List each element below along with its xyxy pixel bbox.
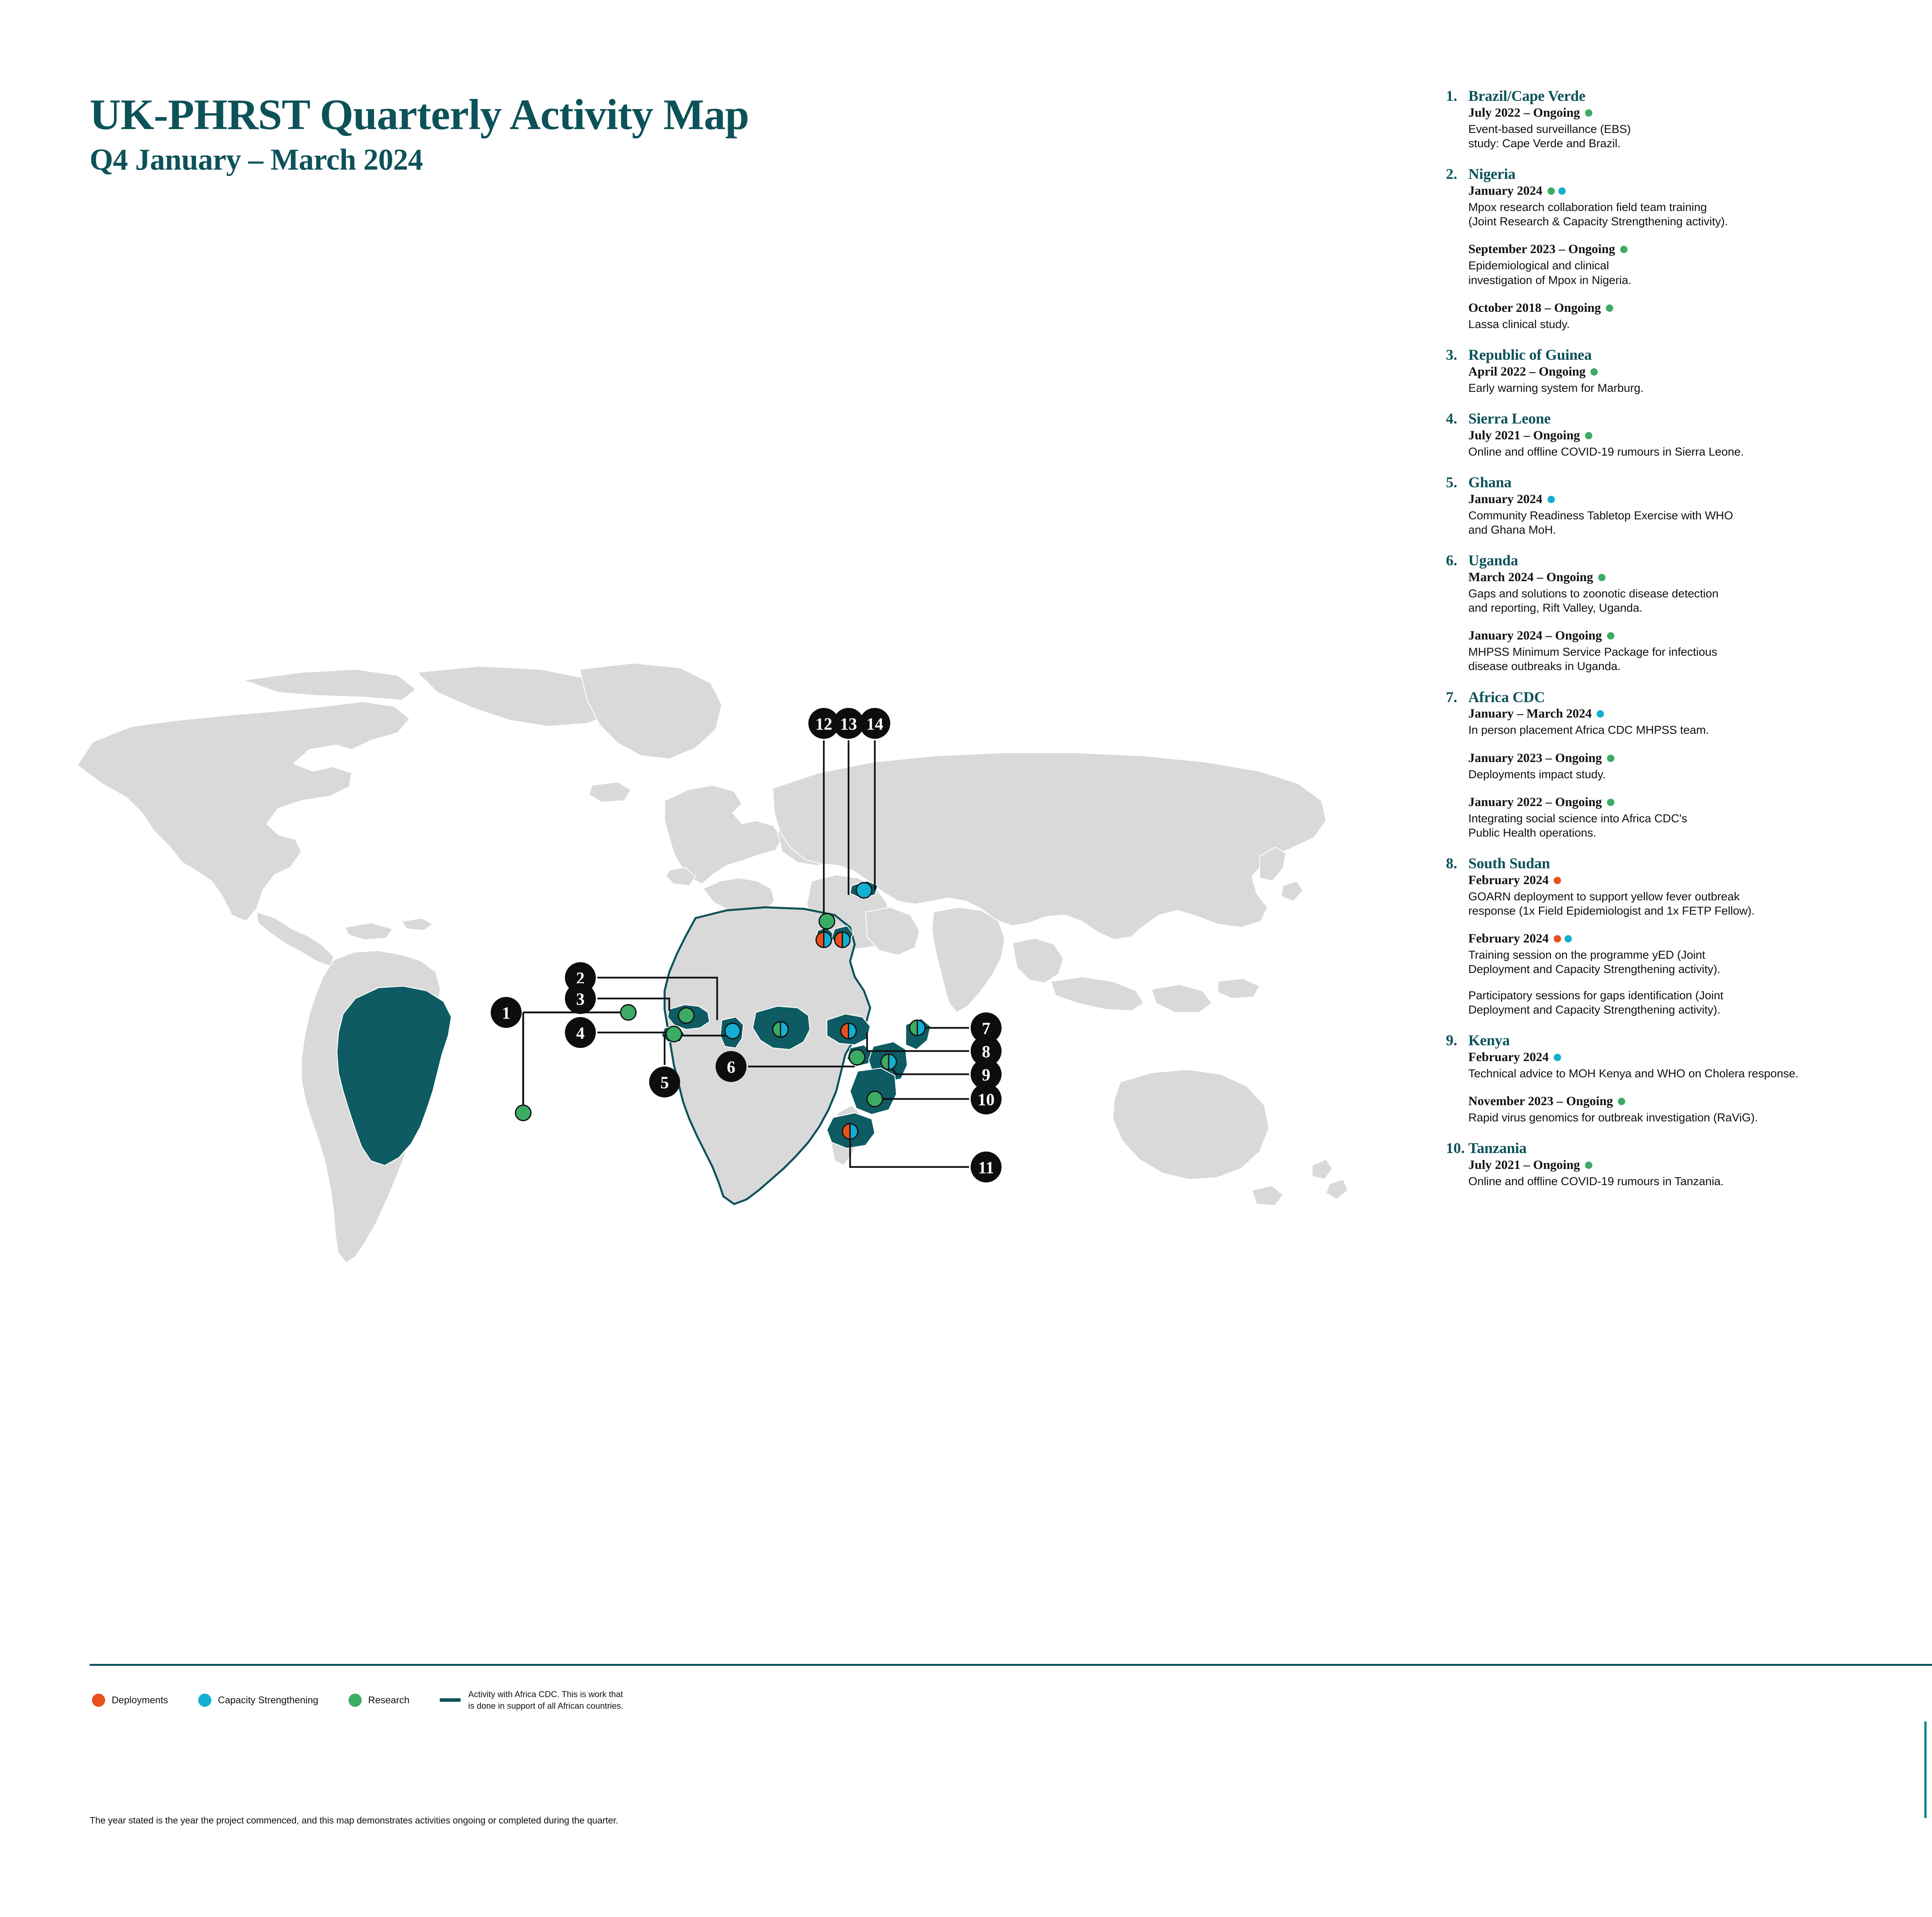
capacity-dot-icon xyxy=(1565,935,1572,942)
activity-description: Integrating social science into Africa C… xyxy=(1468,811,1902,840)
activity-description: Mpox research collaboration field team t… xyxy=(1468,200,1902,229)
entry-header: 1.Brazil/Cape Verde xyxy=(1446,88,1902,105)
activity-item: July 2022 – OngoingEvent-based surveilla… xyxy=(1468,105,1902,151)
svg-text:5: 5 xyxy=(660,1073,669,1092)
map-badge-3: 3 xyxy=(565,983,596,1014)
entry-header: 3.Republic of Guinea xyxy=(1446,347,1902,364)
activity-date-text: January – March 2024 xyxy=(1468,706,1592,721)
activity-item: February 2024GOARN deployment to support… xyxy=(1468,873,1902,918)
svg-text:6: 6 xyxy=(727,1058,735,1077)
activity-entry: 8.South SudanFebruary 2024GOARN deployme… xyxy=(1446,856,1902,1017)
activity-item: January 2023 – OngoingDeployments impact… xyxy=(1468,751,1902,782)
page-title: UK-PHRST Quarterly Activity Map xyxy=(90,93,1094,137)
activity-date-text: January 2024 – Ongoing xyxy=(1468,628,1602,643)
activity-date: January 2022 – Ongoing xyxy=(1468,795,1902,810)
title-block: UK-PHRST Quarterly Activity Map Q4 Janua… xyxy=(90,93,1094,177)
svg-text:7: 7 xyxy=(982,1019,990,1038)
activity-entry: 7.Africa CDCJanuary – March 2024In perso… xyxy=(1446,689,1902,840)
entry-country-name: Republic of Guinea xyxy=(1468,347,1592,364)
africa-cdc-line-icon xyxy=(440,1698,461,1702)
entry-country-name: Ghana xyxy=(1468,475,1512,491)
research-dot-icon xyxy=(1607,632,1614,640)
activity-date-text: November 2023 – Ongoing xyxy=(1468,1094,1613,1109)
activity-description: Training session on the programme yED (J… xyxy=(1468,948,1902,976)
legend-item-research: Research xyxy=(349,1694,410,1707)
legend-label: Capacity Strengthening xyxy=(218,1694,318,1706)
activity-date-text: February 2024 xyxy=(1468,873,1549,888)
activity-extra-description: Participatory sessions for gaps identifi… xyxy=(1468,988,1902,1017)
activity-item: April 2022 – OngoingEarly warning system… xyxy=(1468,364,1902,395)
map-badge-4: 4 xyxy=(565,1017,596,1048)
activity-list-column-left: 1.Brazil/Cape VerdeJuly 2022 – OngoingEv… xyxy=(1446,88,1902,1204)
svg-text:11: 11 xyxy=(978,1158,994,1177)
activity-category-dots xyxy=(1554,935,1572,942)
svg-text:14: 14 xyxy=(866,714,883,733)
research-dot-icon xyxy=(1585,109,1592,117)
svg-text:3: 3 xyxy=(576,990,585,1009)
world-activity-map[interactable]: 1 2 3 4 5 6 7 8 9 10 11 12 13 14 xyxy=(46,649,1406,1337)
activity-category-dots xyxy=(1607,799,1614,806)
activity-category-dots xyxy=(1548,187,1566,195)
entry-number: 3. xyxy=(1446,347,1468,364)
map-badge-10: 10 xyxy=(971,1084,1002,1114)
entry-header: 9.Kenya xyxy=(1446,1032,1902,1049)
activity-date-text: July 2021 – Ongoing xyxy=(1468,1158,1580,1173)
research-dot-icon xyxy=(1585,1162,1592,1169)
activity-item: January 2024 – OngoingMHPSS Minimum Serv… xyxy=(1468,628,1902,674)
activity-date-text: February 2024 xyxy=(1468,931,1549,946)
map-badge-1: 1 xyxy=(491,997,522,1028)
activity-date: February 2024 xyxy=(1468,873,1902,888)
activity-date-text: February 2024 xyxy=(1468,1050,1549,1065)
activity-description: Lassa clinical study. xyxy=(1468,317,1902,332)
activity-date-text: October 2018 – Ongoing xyxy=(1468,301,1601,316)
activity-description: Early warning system for Marburg. xyxy=(1468,381,1902,395)
activity-date-text: July 2021 – Ongoing xyxy=(1468,428,1580,443)
entry-country-name: Tanzania xyxy=(1468,1140,1527,1157)
activity-date: January 2024 – Ongoing xyxy=(1468,628,1902,643)
research-dot-icon xyxy=(1620,246,1628,253)
entry-number: 2. xyxy=(1446,166,1468,183)
map-badge-6: 6 xyxy=(716,1051,747,1082)
entry-number: 6. xyxy=(1446,553,1468,569)
activity-entry: 2.NigeriaJanuary 2024Mpox research colla… xyxy=(1446,166,1902,332)
activity-entry: 9.KenyaFebruary 2024Technical advice to … xyxy=(1446,1032,1902,1125)
entry-header: 4.Sierra Leone xyxy=(1446,411,1902,427)
activity-category-dots xyxy=(1585,432,1592,439)
activity-item: October 2018 – OngoingLassa clinical stu… xyxy=(1468,301,1902,332)
activity-date-text: January 2024 xyxy=(1468,184,1543,199)
legend-label: Research xyxy=(368,1694,410,1706)
footer-divider xyxy=(90,1664,1932,1666)
activity-description: Gaps and solutions to zoonotic disease d… xyxy=(1468,587,1902,615)
entry-country-name: Uganda xyxy=(1468,553,1518,569)
activity-date-text: September 2023 – Ongoing xyxy=(1468,242,1615,257)
entry-country-name: Sierra Leone xyxy=(1468,411,1551,427)
research-dot-icon xyxy=(349,1694,362,1707)
activity-category-dots xyxy=(1590,368,1598,376)
activity-entry: 3.Republic of GuineaApril 2022 – Ongoing… xyxy=(1446,347,1902,395)
capacity-dot-icon xyxy=(1554,1054,1561,1061)
entry-header: 8.South Sudan xyxy=(1446,856,1902,872)
entry-number: 10. xyxy=(1446,1140,1468,1157)
capacity-dot-icon xyxy=(1597,710,1604,718)
partner-logos: UK HealthSecurityAgency LONDON SCHOOLof … xyxy=(1924,1708,1932,1824)
activity-item: February 2024Technical advice to MOH Ken… xyxy=(1468,1050,1902,1081)
svg-text:13: 13 xyxy=(840,714,857,733)
activity-entry: 5.GhanaJanuary 2024Community Readiness T… xyxy=(1446,475,1902,537)
activity-description: Technical advice to MOH Kenya and WHO on… xyxy=(1468,1067,1902,1081)
legend-item-capacity-strengthening: Capacity Strengthening xyxy=(198,1694,318,1707)
activity-date-text: April 2022 – Ongoing xyxy=(1468,364,1585,379)
activity-date: January – March 2024 xyxy=(1468,706,1902,721)
activity-item: February 2024Training session on the pro… xyxy=(1468,931,1902,1017)
activity-category-dots xyxy=(1548,496,1555,503)
activity-category-dots xyxy=(1554,877,1561,884)
deployments-dot-icon xyxy=(1554,935,1561,942)
activity-description: Online and offline COVID-19 rumours in S… xyxy=(1468,445,1902,459)
legend: Deployments Capacity Strengthening Resea… xyxy=(92,1689,653,1711)
entry-header: 7.Africa CDC xyxy=(1446,689,1902,706)
activity-date-text: January 2022 – Ongoing xyxy=(1468,795,1602,810)
activity-item: January 2022 – OngoingIntegrating social… xyxy=(1468,795,1902,840)
activity-date-text: January 2023 – Ongoing xyxy=(1468,751,1602,766)
activity-date: January 2024 xyxy=(1468,492,1902,507)
research-dot-icon xyxy=(1585,432,1592,439)
svg-text:12: 12 xyxy=(815,714,832,733)
activity-category-dots xyxy=(1606,304,1613,312)
activity-category-dots xyxy=(1620,246,1628,253)
research-dot-icon xyxy=(1607,755,1614,762)
map-badge-5: 5 xyxy=(649,1067,680,1097)
activity-date: July 2021 – Ongoing xyxy=(1468,1158,1902,1173)
entry-header: 2.Nigeria xyxy=(1446,166,1902,183)
activity-entry: 4.Sierra LeoneJuly 2021 – OngoingOnline … xyxy=(1446,411,1902,459)
svg-text:8: 8 xyxy=(982,1042,990,1061)
activity-date: March 2024 – Ongoing xyxy=(1468,570,1902,585)
entry-number: 4. xyxy=(1446,411,1468,427)
activity-item: July 2021 – OngoingOnline and offline CO… xyxy=(1468,1158,1902,1189)
entry-number: 5. xyxy=(1446,475,1468,491)
research-dot-icon xyxy=(1607,799,1614,806)
activity-date: September 2023 – Ongoing xyxy=(1468,242,1902,257)
activity-date: July 2021 – Ongoing xyxy=(1468,428,1902,443)
entry-header: 6.Uganda xyxy=(1446,553,1902,569)
activity-item: January 2024Mpox research collaboration … xyxy=(1468,184,1902,229)
svg-text:9: 9 xyxy=(982,1065,990,1084)
activity-category-dots xyxy=(1585,109,1592,117)
entry-country-name: Nigeria xyxy=(1468,166,1515,183)
page-subtitle: Q4 January – March 2024 xyxy=(90,142,1094,177)
entry-number: 1. xyxy=(1446,88,1468,105)
research-dot-icon xyxy=(1606,304,1613,312)
activity-category-dots xyxy=(1618,1098,1625,1105)
logo-accent-bar xyxy=(1924,1721,1927,1818)
activity-item: September 2023 – OngoingEpidemiological … xyxy=(1468,242,1902,287)
svg-text:1: 1 xyxy=(502,1004,510,1022)
activity-date-text: January 2024 xyxy=(1468,492,1543,507)
activity-category-dots xyxy=(1597,710,1604,718)
activity-category-dots xyxy=(1607,755,1614,762)
activity-date: February 2024 xyxy=(1468,1050,1902,1065)
entry-header: 10.Tanzania xyxy=(1446,1140,1902,1157)
activity-description: In person placement Africa CDC MHPSS tea… xyxy=(1468,723,1902,737)
activity-date: April 2022 – Ongoing xyxy=(1468,364,1902,379)
activity-entry: 6.UgandaMarch 2024 – OngoingGaps and sol… xyxy=(1446,553,1902,674)
footnote: The year stated is the year the project … xyxy=(90,1815,618,1826)
entry-header: 5.Ghana xyxy=(1446,475,1902,491)
entry-number: 7. xyxy=(1446,689,1468,706)
activity-description: Deployments impact study. xyxy=(1468,767,1902,782)
activity-category-dots xyxy=(1598,574,1605,581)
research-dot-icon xyxy=(1590,368,1598,376)
activity-date: February 2024 xyxy=(1468,931,1902,946)
activity-item: January – March 2024In person placement … xyxy=(1468,706,1902,737)
activity-date-text: July 2022 – Ongoing xyxy=(1468,105,1580,121)
activity-date: November 2023 – Ongoing xyxy=(1468,1094,1902,1109)
activity-item: March 2024 – OngoingGaps and solutions t… xyxy=(1468,570,1902,615)
research-dot-icon xyxy=(1548,187,1555,195)
activity-date: January 2024 xyxy=(1468,184,1902,199)
map-badge-11: 11 xyxy=(971,1152,1002,1182)
legend-note: Activity with Africa CDC. This is work t… xyxy=(468,1689,623,1711)
activity-category-dots xyxy=(1585,1162,1592,1169)
research-dot-icon xyxy=(1618,1098,1625,1105)
capacity-dot-icon xyxy=(1548,496,1555,503)
entry-country-name: South Sudan xyxy=(1468,856,1550,872)
svg-text:4: 4 xyxy=(576,1024,585,1043)
activity-item: January 2024Community Readiness Tabletop… xyxy=(1468,492,1902,537)
world-map-svg: 1 2 3 4 5 6 7 8 9 10 11 12 13 14 xyxy=(46,649,1406,1337)
activity-date-text: March 2024 – Ongoing xyxy=(1468,570,1593,585)
entry-country-name: Brazil/Cape Verde xyxy=(1468,88,1585,105)
activity-description: GOARN deployment to support yellow fever… xyxy=(1468,890,1902,918)
activity-description: Rapid virus genomics for outbreak invest… xyxy=(1468,1111,1902,1125)
activity-description: Community Readiness Tabletop Exercise wi… xyxy=(1468,509,1902,537)
svg-text:10: 10 xyxy=(978,1090,995,1109)
activity-description: Epidemiological and clinicalinvestigatio… xyxy=(1468,259,1902,287)
activity-entry: 10.TanzaniaJuly 2021 – OngoingOnline and… xyxy=(1446,1140,1902,1189)
legend-label: Deployments xyxy=(112,1694,168,1706)
activity-date: January 2023 – Ongoing xyxy=(1468,751,1902,766)
capacity-dot-icon xyxy=(198,1694,211,1707)
deployments-dot-icon xyxy=(1554,877,1561,884)
activity-description: Event-based surveillance (EBS)study: Cap… xyxy=(1468,122,1902,151)
activity-entry: 1.Brazil/Cape VerdeJuly 2022 – OngoingEv… xyxy=(1446,88,1902,151)
logo-ukhsa: UK HealthSecurityAgency xyxy=(1924,1716,1932,1824)
deployments-dot-icon xyxy=(92,1694,105,1707)
entry-number: 9. xyxy=(1446,1032,1468,1049)
entry-country-name: Kenya xyxy=(1468,1032,1510,1049)
map-badge-14: 14 xyxy=(859,708,890,739)
activity-item: July 2021 – OngoingOnline and offline CO… xyxy=(1468,428,1902,459)
activity-description: MHPSS Minimum Service Package for infect… xyxy=(1468,645,1902,674)
entry-number: 8. xyxy=(1446,856,1468,872)
legend-item-deployments: Deployments xyxy=(92,1694,168,1707)
activity-date: July 2022 – Ongoing xyxy=(1468,105,1902,121)
activity-description: Online and offline COVID-19 rumours in T… xyxy=(1468,1174,1902,1189)
research-dot-icon xyxy=(1598,574,1605,581)
entry-country-name: Africa CDC xyxy=(1468,689,1545,706)
capacity-dot-icon xyxy=(1558,187,1566,195)
activity-item: November 2023 – OngoingRapid virus genom… xyxy=(1468,1094,1902,1125)
activity-category-dots xyxy=(1554,1054,1561,1061)
activity-category-dots xyxy=(1607,632,1614,640)
activity-date: October 2018 – Ongoing xyxy=(1468,301,1902,316)
legend-item-africa-cdc-line: Activity with Africa CDC. This is work t… xyxy=(440,1689,623,1711)
